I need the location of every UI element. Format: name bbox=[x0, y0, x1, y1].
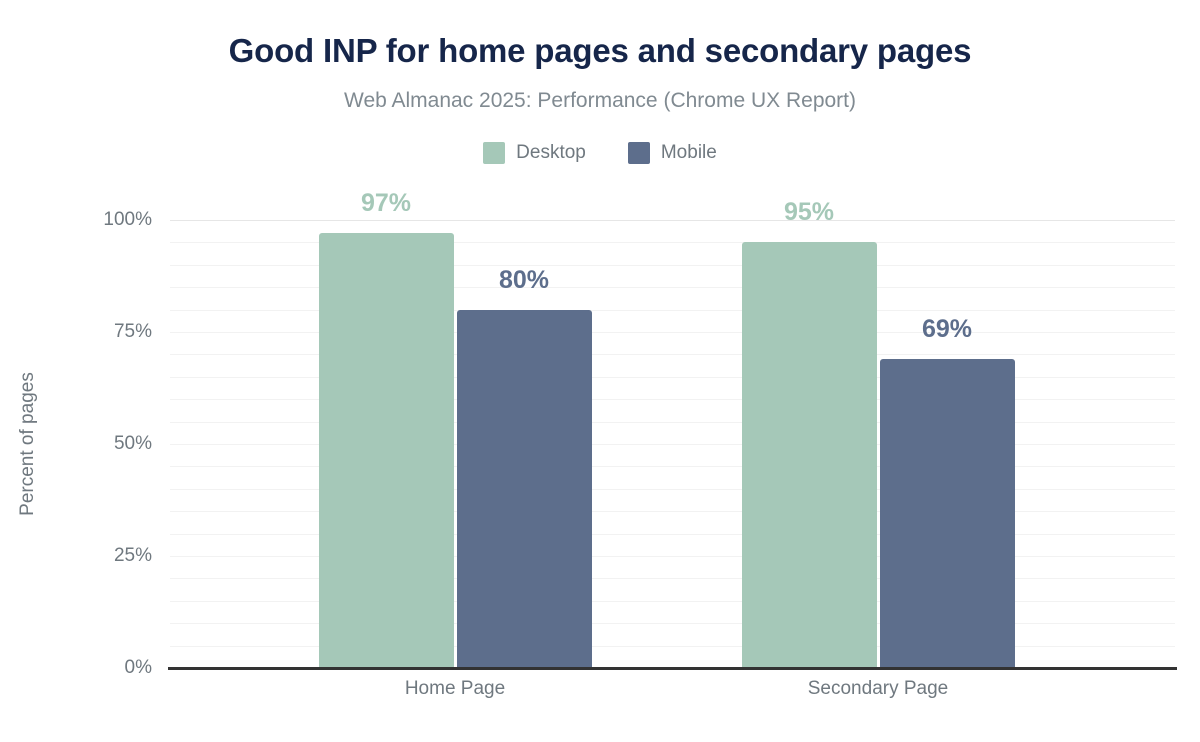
chart-figure: Good INP for home pages and secondary pa… bbox=[0, 0, 1200, 742]
legend-entry-desktop[interactable]: Desktop bbox=[483, 142, 586, 164]
y-tick-label: 75% bbox=[114, 321, 152, 343]
y-tick-label: 0% bbox=[125, 657, 152, 679]
chart-subtitle: Web Almanac 2025: Performance (Chrome UX… bbox=[0, 89, 1200, 113]
bar-value-label: 69% bbox=[922, 315, 972, 344]
bar-desktop-secondary-page[interactable] bbox=[742, 242, 877, 668]
legend-entry-mobile[interactable]: Mobile bbox=[628, 142, 717, 164]
y-tick-label: 25% bbox=[114, 545, 152, 567]
plot-area bbox=[170, 220, 1175, 668]
bar-value-label: 80% bbox=[499, 266, 549, 295]
y-tick-label: 50% bbox=[114, 433, 152, 455]
legend-swatch-mobile bbox=[628, 142, 650, 164]
x-category-label: Home Page bbox=[405, 678, 505, 700]
chart-legend: DesktopMobile bbox=[0, 142, 1200, 164]
x-category-label: Secondary Page bbox=[808, 678, 949, 700]
bar-value-label: 95% bbox=[784, 198, 834, 227]
gridline bbox=[170, 220, 1175, 221]
legend-label: Mobile bbox=[661, 142, 717, 164]
bar-mobile-home-page[interactable] bbox=[457, 310, 592, 668]
chart-title: Good INP for home pages and secondary pa… bbox=[0, 32, 1200, 70]
bar-value-label: 97% bbox=[361, 189, 411, 218]
y-tick-label: 100% bbox=[103, 209, 152, 231]
legend-swatch-desktop bbox=[483, 142, 505, 164]
bar-mobile-secondary-page[interactable] bbox=[880, 359, 1015, 668]
legend-label: Desktop bbox=[516, 142, 586, 164]
y-axis-title: Percent of pages bbox=[17, 372, 39, 516]
bar-desktop-home-page[interactable] bbox=[319, 233, 454, 668]
x-axis-line bbox=[168, 667, 1177, 670]
